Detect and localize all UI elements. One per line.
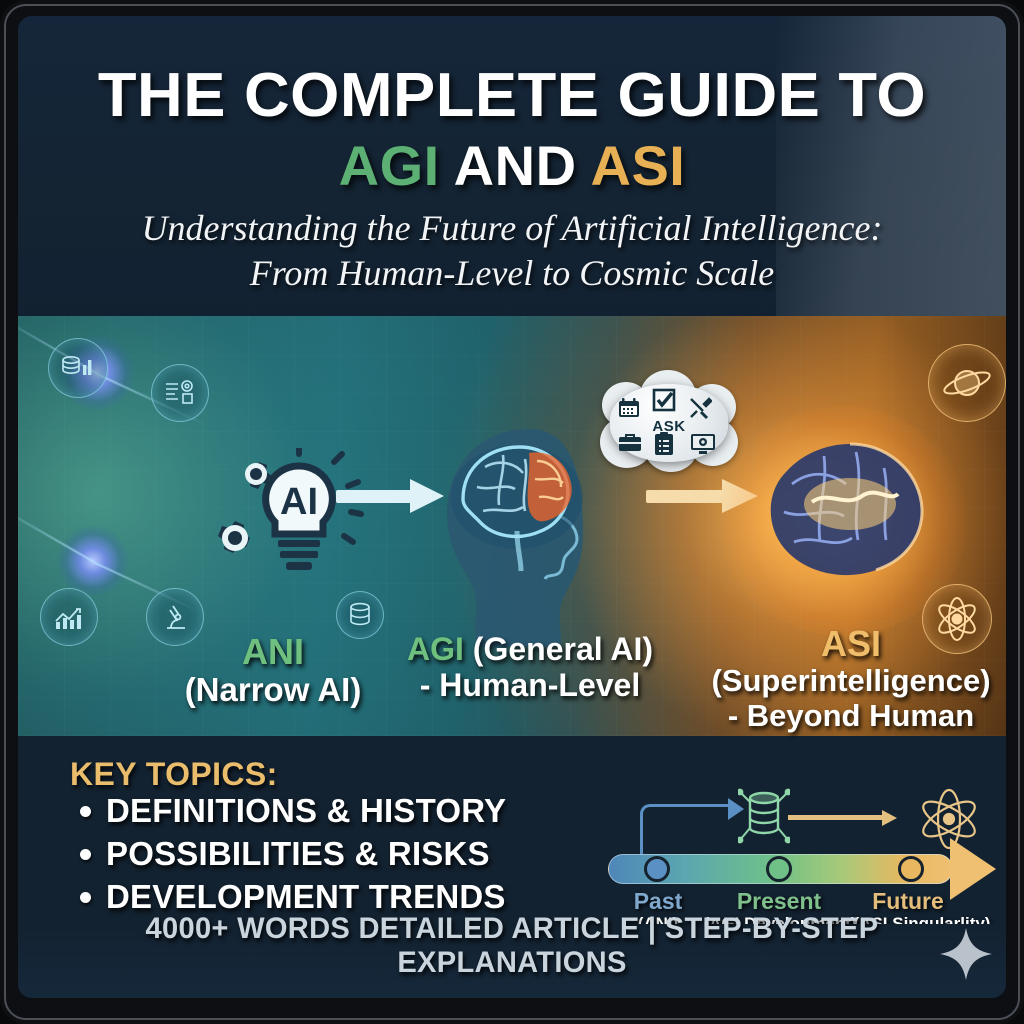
list-item: POSSIBILITIES & RISKS xyxy=(80,835,610,873)
stage-agi-extra: - Human-Level xyxy=(420,667,640,703)
stage-ani-acronym: ANI xyxy=(242,631,304,672)
subtitle-line-2: From Human-Level to Cosmic Scale xyxy=(18,251,1006,296)
stage-asi-descriptor: (Superintelligence) xyxy=(711,663,990,698)
topic-label: POSSIBILITIES & RISKS xyxy=(106,835,490,873)
title-acronym-line: AGI AND ASI xyxy=(18,133,1006,198)
page-title: THE COMPLETE GUIDE TO xyxy=(18,60,1006,131)
neuron-node-bottom xyxy=(58,526,128,596)
list-item: DEVELOPMENT TRENDS xyxy=(80,878,610,916)
bullet-icon xyxy=(80,892,91,903)
subtitle-line-1: Understanding the Future of Artificial I… xyxy=(18,206,1006,251)
bullet-icon xyxy=(80,806,91,817)
stage-asi-extra: - Beyond Human xyxy=(728,698,974,733)
key-topics-heading: KEY TOPICS: xyxy=(70,756,278,793)
stage-agi-descriptor: (General AI) xyxy=(464,631,653,667)
monitor-gear-icon xyxy=(690,432,716,461)
bar-chart-trend-icon xyxy=(40,588,98,646)
topic-label: DEVELOPMENT TRENDS xyxy=(106,878,506,916)
timeline-node-past[interactable] xyxy=(644,856,670,882)
poster-inner-card: THE COMPLETE GUIDE TO AGI AND ASI Unders… xyxy=(18,16,1006,998)
arrow-ani-to-agi xyxy=(336,479,448,513)
timeline-mid-arrow xyxy=(788,810,906,824)
database-chart-icon xyxy=(48,338,108,398)
briefcase-icon xyxy=(618,432,642,457)
timeline-label-present: Present xyxy=(714,888,844,915)
title-and-text: AND xyxy=(440,134,591,197)
timeline-feedback-loop xyxy=(640,804,730,858)
human-head-brain-illustration xyxy=(433,421,623,651)
checkbox-icon xyxy=(652,388,676,417)
document-gear-icon xyxy=(151,364,209,422)
stage-label-ani: ANI (Narrow AI) xyxy=(138,632,408,709)
timeline-node-present[interactable] xyxy=(766,856,792,882)
sparkle-icon xyxy=(938,926,994,982)
timeline-node-future[interactable] xyxy=(898,856,924,882)
infographic-poster: THE COMPLETE GUIDE TO AGI AND ASI Unders… xyxy=(0,0,1024,1024)
subtitle: Understanding the Future of Artificial I… xyxy=(18,206,1006,296)
footer-text: 4000+ WORDS DETAILED ARTICLE | STEP-BY-S… xyxy=(33,912,991,980)
timeline-label-past: Past xyxy=(608,888,708,915)
stage-label-agi: AGI (General AI) - Human-Level xyxy=(380,632,680,704)
asi-brain-illustration xyxy=(754,434,944,614)
topic-label: DEFINITIONS & HISTORY xyxy=(106,792,506,830)
svg-text:AI: AI xyxy=(280,481,318,523)
stage-ani-descriptor: (Narrow AI) xyxy=(185,671,362,708)
database-network-icon xyxy=(738,784,790,850)
stage-agi-acronym: AGI xyxy=(407,631,464,667)
list-item: DEFINITIONS & HISTORY xyxy=(80,792,610,830)
title-agi-text: AGI xyxy=(339,134,440,197)
planet-icon xyxy=(928,344,1006,422)
clipboard-icon xyxy=(654,432,674,461)
title-asi-text: ASI xyxy=(591,134,686,197)
bullet-icon xyxy=(80,849,91,860)
ai-lightbulb-group: AI xyxy=(194,448,374,598)
timeline-label-future: Future xyxy=(848,888,968,915)
stage-label-asi: ASI (Superintelligence) - Beyond Human xyxy=(686,624,1006,734)
thought-bubble: ASK xyxy=(596,374,742,474)
stage-asi-acronym: ASI xyxy=(821,623,881,664)
